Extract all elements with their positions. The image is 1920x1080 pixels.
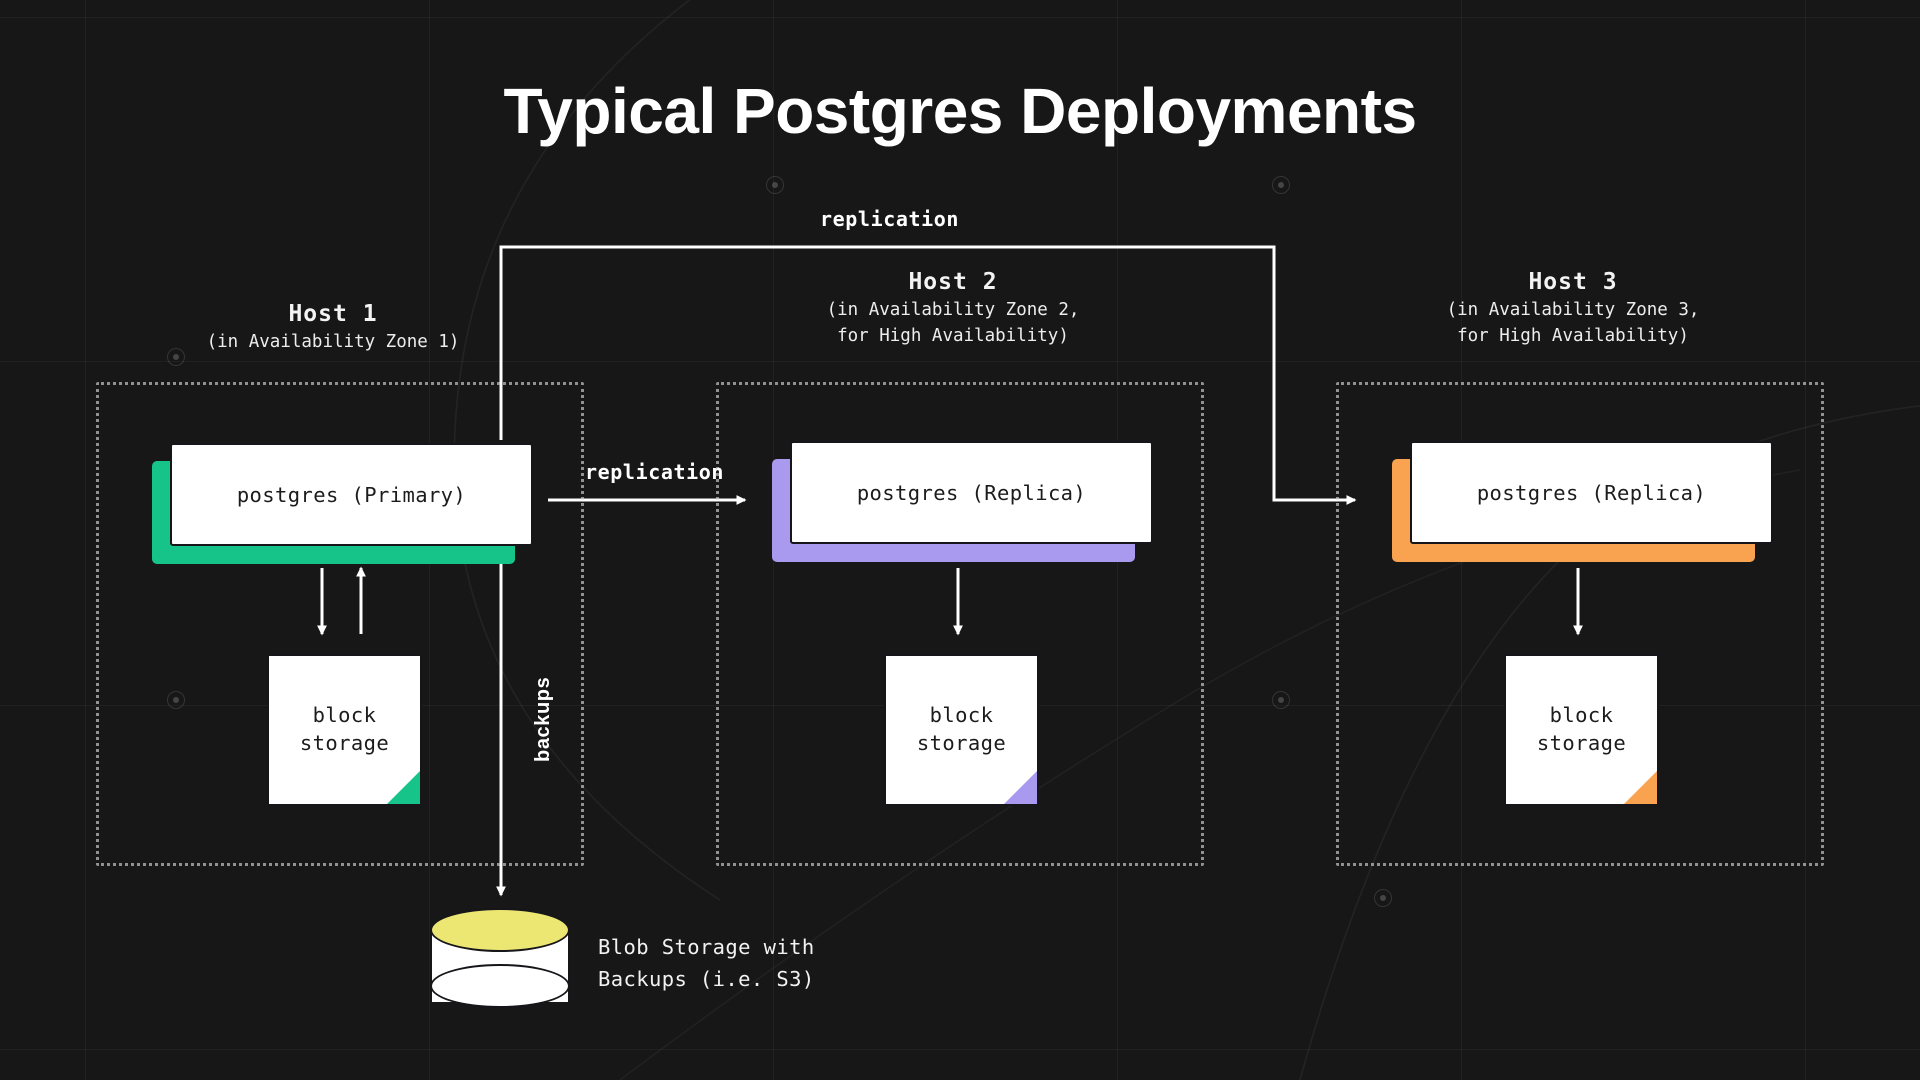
host-name: Host 1 <box>123 300 543 329</box>
decorative-ring <box>1374 889 1392 907</box>
node-label: postgres (Replica) <box>1477 481 1706 505</box>
host-name: Host 3 <box>1363 268 1783 297</box>
host-subtitle-line: for High Availability) <box>1363 323 1783 349</box>
node-card: postgres (Primary) <box>170 443 533 546</box>
block-storage-host-2[interactable]: block storage <box>884 654 1039 806</box>
blob-storage-label-line: Backups (i.e. S3) <box>598 964 815 996</box>
postgres-node-host-1[interactable]: postgres (Primary) <box>170 443 533 546</box>
corner-fold-icon <box>387 771 420 804</box>
cylinder-bottom <box>430 964 570 1008</box>
blob-storage-label-line: Blob Storage with <box>598 932 815 964</box>
blob-storage-cylinder[interactable] <box>430 908 570 1018</box>
node-label: postgres (Replica) <box>857 481 1086 505</box>
host-header-1: Host 1 (in Availability Zone 1) <box>123 300 543 355</box>
node-label: postgres (Primary) <box>237 483 466 507</box>
cylinder-top <box>430 908 570 952</box>
host-subtitle-line: (in Availability Zone 3, <box>1363 297 1783 323</box>
decorative-ring <box>1272 691 1290 709</box>
host-subtitle-line: (in Availability Zone 1) <box>123 329 543 355</box>
diagram-canvas: Typical Postgres Deployments Host 1 (in … <box>0 0 1920 1080</box>
node-card: postgres (Replica) <box>1410 441 1773 544</box>
storage-label-line: storage <box>300 730 389 758</box>
storage-label-line: block <box>930 702 994 730</box>
host-subtitle-line: for High Availability) <box>743 323 1163 349</box>
storage-label-line: storage <box>917 730 1006 758</box>
decorative-ring <box>766 176 784 194</box>
host-name: Host 2 <box>743 268 1163 297</box>
replication-label-top: replication <box>820 207 959 231</box>
host-header-2: Host 2 (in Availability Zone 2, for High… <box>743 268 1163 349</box>
blob-storage-label: Blob Storage with Backups (i.e. S3) <box>598 932 815 996</box>
block-storage-host-3[interactable]: block storage <box>1504 654 1659 806</box>
corner-fold-icon <box>1624 771 1657 804</box>
page-title: Typical Postgres Deployments <box>0 74 1920 148</box>
block-storage-host-1[interactable]: block storage <box>267 654 422 806</box>
storage-label-line: storage <box>1537 730 1626 758</box>
storage-label-line: block <box>1550 702 1614 730</box>
replication-label-mid: replication <box>585 460 724 484</box>
backups-label: backups <box>532 677 555 762</box>
storage-label-line: block <box>313 702 377 730</box>
postgres-node-host-3[interactable]: postgres (Replica) <box>1410 441 1773 544</box>
postgres-node-host-2[interactable]: postgres (Replica) <box>790 441 1153 544</box>
node-card: postgres (Replica) <box>790 441 1153 544</box>
host-subtitle-line: (in Availability Zone 2, <box>743 297 1163 323</box>
decorative-ring <box>1272 176 1290 194</box>
corner-fold-icon <box>1004 771 1037 804</box>
host-header-3: Host 3 (in Availability Zone 3, for High… <box>1363 268 1783 349</box>
